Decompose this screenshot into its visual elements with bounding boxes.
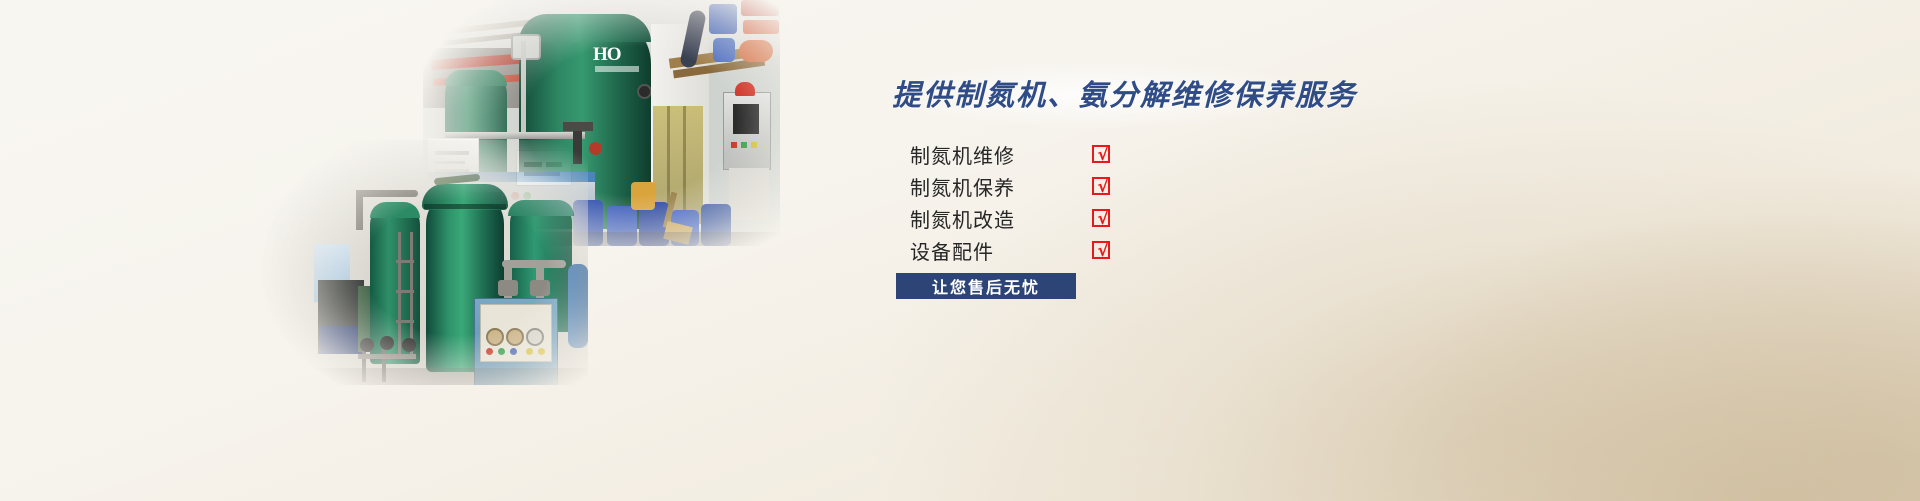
banner-headline: 提供制氮机、氨分解维修保养服务	[892, 72, 1322, 114]
service-list: 制氮机维修 √ 制氮机保养 √ 制氮机改造 √	[910, 138, 1210, 266]
service-label: 制氮机维修	[910, 140, 1060, 169]
service-label: 制氮机改造	[910, 204, 1060, 233]
nitrogen-plant-photo	[258, 140, 588, 385]
photo-scene-bottom	[258, 140, 588, 385]
promo-banner: HO	[0, 0, 1920, 501]
checkbox-checked-icon[interactable]: √	[1092, 209, 1110, 227]
checkbox-checked-icon[interactable]: √	[1092, 241, 1110, 259]
service-label: 设备配件	[910, 236, 1060, 265]
check-mark-icon: √	[1095, 242, 1111, 260]
check-mark-icon: √	[1095, 210, 1111, 228]
photo-collage: HO	[0, 0, 800, 501]
service-item-retrofit[interactable]: 制氮机改造 √	[910, 202, 1210, 234]
checkbox-checked-icon[interactable]: √	[1092, 145, 1110, 163]
checkbox-checked-icon[interactable]: √	[1092, 177, 1110, 195]
tank-brand-mark: HO	[593, 44, 639, 66]
check-mark-icon: √	[1095, 178, 1111, 196]
service-item-repair[interactable]: 制氮机维修 √	[910, 138, 1210, 170]
after-sales-cta-button[interactable]: 让您售后无忧	[896, 273, 1076, 299]
service-item-maintenance[interactable]: 制氮机保养 √	[910, 170, 1210, 202]
banner-content: 提供制氮机、氨分解维修保养服务 制氮机维修 √ 制氮机保养 √ 制氮机改造	[880, 0, 1640, 501]
check-mark-icon: √	[1095, 146, 1111, 164]
service-label: 制氮机保养	[910, 172, 1060, 201]
service-item-parts[interactable]: 设备配件 √	[910, 234, 1210, 266]
